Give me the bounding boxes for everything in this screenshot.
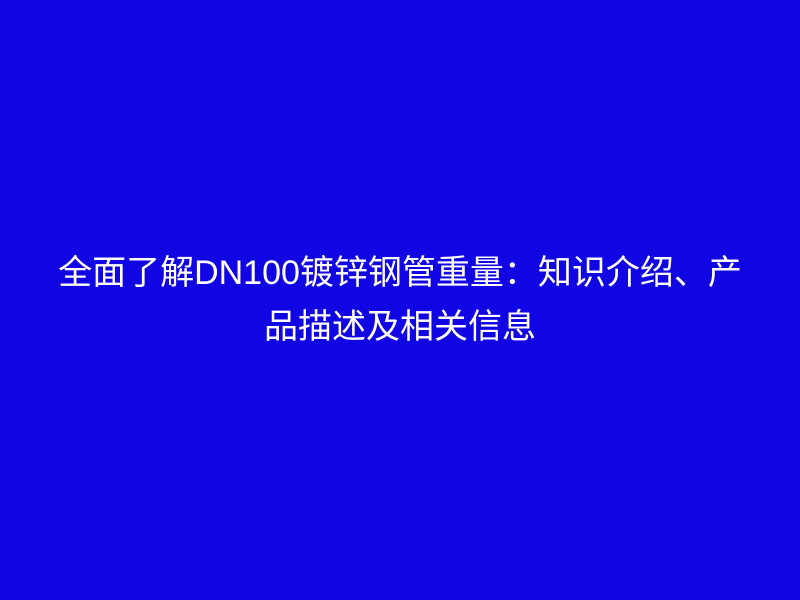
- page-title: 全面了解DN100镀锌钢管重量：知识介绍、产品描述及相关信息: [50, 246, 750, 354]
- title-banner: 全面了解DN100镀锌钢管重量：知识介绍、产品描述及相关信息: [0, 0, 800, 600]
- title-block: 全面了解DN100镀锌钢管重量：知识介绍、产品描述及相关信息: [50, 246, 750, 354]
